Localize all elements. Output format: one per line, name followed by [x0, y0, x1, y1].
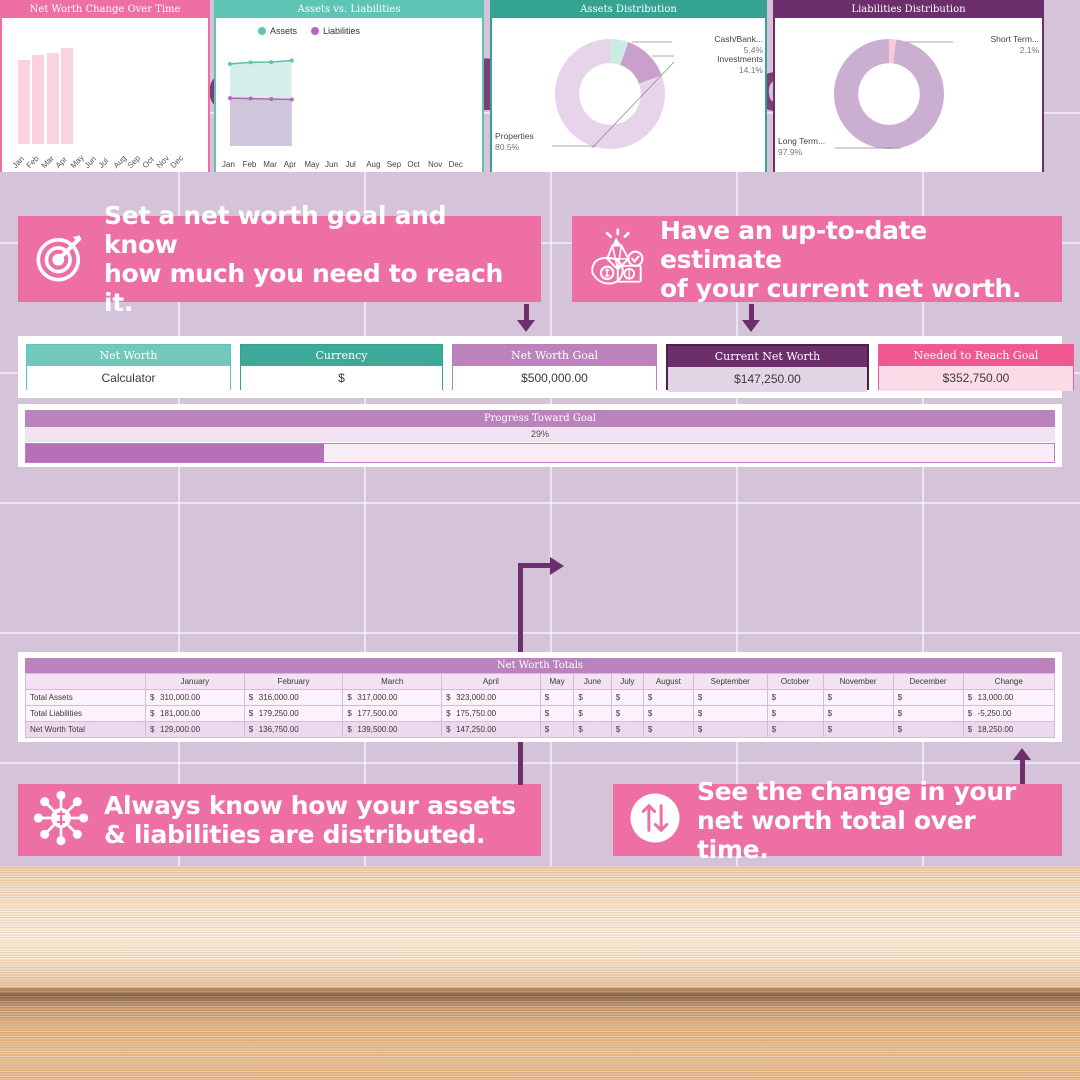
table-row: Net Worth Total$129,000.00$136,750.00$13…	[26, 722, 1055, 738]
progress-percent-label: 29%	[25, 427, 1055, 442]
table-cell[interactable]: $177,500.00	[343, 706, 442, 722]
area-assets-fill	[230, 61, 292, 100]
banner-change: See the change in your net worth total o…	[613, 784, 1062, 856]
table-cell[interactable]: $	[693, 690, 767, 706]
banner-goal-line2: how much you need to reach it.	[104, 259, 527, 317]
area-point-liabilities-2	[269, 97, 273, 101]
banner-distribution: Always know how your assets & liabilitie…	[18, 784, 541, 856]
banner-change-line2: net worth total over time.	[697, 806, 1048, 864]
card-current-header: Current Net Worth	[668, 346, 867, 367]
table-col-november: November	[823, 674, 893, 690]
table-cell[interactable]: $	[893, 706, 963, 722]
assets-donut-chart: Cash/Bank... 5.4% Investments 14.1% Prop…	[492, 18, 765, 172]
table-cell[interactable]: $	[893, 690, 963, 706]
area-xlabel-jul: Jul	[346, 160, 356, 169]
area-point-liabilities-0	[228, 96, 232, 100]
bar-xlabel-jan: Jan	[11, 155, 26, 170]
progress-section: Progress Toward Goal 29%	[18, 404, 1062, 467]
progress-bar-track	[25, 443, 1055, 463]
area-point-assets-1	[249, 60, 253, 64]
table-col-january: January	[146, 674, 245, 690]
area-point-assets-0	[228, 62, 232, 66]
donut-slice-1	[834, 39, 944, 149]
arrow-down-to-current-icon	[742, 304, 760, 332]
area-xlabel-nov: Nov	[428, 160, 442, 169]
area-xlabel-aug: Aug	[366, 160, 380, 169]
panel-area-title: Assets vs. Liabilities	[216, 2, 482, 18]
liabilities-donut-chart: Short Term... 2.1% Long Term... 97.9%	[775, 18, 1042, 172]
bar-xlabel-jun: Jun	[83, 155, 98, 170]
table-header-row: JanuaryFebruaryMarchAprilMayJuneJulyAugu…	[26, 674, 1055, 690]
table-row-label: Net Worth Total	[26, 722, 146, 738]
area-xlabel-may: May	[304, 160, 319, 169]
charts-row: Net Worth Change Over Time JanFebMarAprM…	[0, 0, 1044, 172]
bar-xlabel-apr: Apr	[54, 155, 69, 170]
card-net-worth-goal[interactable]: Net Worth Goal $500,000.00	[452, 344, 657, 390]
card-currency-value[interactable]: $	[241, 366, 442, 391]
table-cell[interactable]: $	[611, 722, 643, 738]
card-current-value: $147,250.00	[668, 367, 867, 392]
table-cell[interactable]: $	[693, 706, 767, 722]
liab-slice-label-1: Long Term...	[778, 136, 862, 147]
panel-net-worth-change: Net Worth Change Over Time JanFebMarAprM…	[0, 0, 210, 172]
liab-slice-label-0: Short Term...	[955, 34, 1039, 45]
table-cell[interactable]: $	[893, 722, 963, 738]
dollar-network-icon	[32, 789, 90, 852]
area-chart: Assets Liabilities JanFebMarAprMayJunJul…	[216, 18, 482, 172]
table-col-september: September	[693, 674, 767, 690]
bar-xlabel-feb: Feb	[25, 154, 41, 170]
table-col-april: April	[442, 674, 541, 690]
bar-mar	[47, 53, 59, 144]
area-xlabel-feb: Feb	[243, 160, 257, 169]
assets-slice-pct-2: 80.5%	[495, 142, 581, 153]
card-goal-value[interactable]: $500,000.00	[453, 366, 656, 391]
card-currency-header: Currency	[241, 345, 442, 366]
net-worth-table: JanuaryFebruaryMarchAprilMayJuneJulyAugu…	[25, 673, 1055, 738]
panel-assets-vs-liabilities: Assets vs. Liabilities Assets Liabilitie…	[214, 0, 484, 172]
bar-xlabel-oct: Oct	[140, 155, 155, 170]
table-cell[interactable]: $-5,250.00	[963, 706, 1054, 722]
area-point-assets-3	[290, 59, 294, 63]
banner-estimate-line1: Have an up-to-date estimate	[660, 216, 1048, 274]
card-net-worth-value[interactable]: Calculator	[27, 366, 230, 391]
bar-jan	[18, 60, 30, 144]
bar-xlabel-may: May	[68, 153, 85, 170]
metric-cards-row: Net Worth Calculator Currency $ Net Wort…	[18, 336, 1062, 398]
table-cell[interactable]: $	[767, 690, 823, 706]
table-cell[interactable]: $	[643, 722, 693, 738]
table-row: Total Liabilities$181,000.00$179,250.00$…	[26, 706, 1055, 722]
panel-liabilities-distribution: Liabilities Distribution Short Term... 2…	[773, 0, 1044, 172]
assets-slice-label-2: Properties	[495, 131, 581, 142]
area-point-assets-2	[269, 60, 273, 64]
banner-estimate: Have an up-to-date estimate of your curr…	[572, 216, 1062, 302]
panel-bar-title: Net Worth Change Over Time	[2, 2, 208, 18]
target-icon	[32, 228, 90, 291]
table-cell[interactable]: $317,000.00	[343, 690, 442, 706]
table-cell[interactable]: $136,750.00	[244, 722, 343, 738]
table-row-label: Total Assets	[26, 690, 146, 706]
assets-slice-label-0: Cash/Bank...	[677, 34, 763, 45]
assets-slice-label-1: Investments	[677, 54, 763, 65]
area-point-liabilities-1	[249, 97, 253, 101]
table-cell[interactable]: $13,000.00	[963, 690, 1054, 706]
arrow-down-to-goal-icon	[517, 304, 535, 332]
area-liabilities-fill	[230, 98, 292, 146]
table-cell[interactable]: $	[540, 706, 574, 722]
wood-desk-backdrop	[0, 866, 1080, 1080]
area-point-liabilities-3	[290, 97, 294, 101]
table-row-label: Total Liabilities	[26, 706, 146, 722]
banner-estimate-line2: of your current net worth.	[660, 274, 1048, 303]
area-xlabel-dec: Dec	[449, 160, 463, 169]
card-current-net-worth[interactable]: Current Net Worth $147,250.00	[666, 344, 869, 390]
panel-assets-distribution: Assets Distribution Cash/Bank... 5.4% In…	[490, 0, 767, 172]
bar-apr	[61, 48, 73, 144]
liab-slice-pct-1: 97.9%	[778, 147, 862, 158]
table-row: Total Assets$310,000.00$316,000.00$317,0…	[26, 690, 1055, 706]
banner-change-line1: See the change in your	[697, 777, 1048, 806]
table-col-march: March	[343, 674, 442, 690]
table-col-october: October	[767, 674, 823, 690]
progress-title: Progress Toward Goal	[25, 410, 1055, 427]
area-xlabel-jun: Jun	[325, 160, 338, 169]
table-cell[interactable]: $179,250.00	[244, 706, 343, 722]
table-cell[interactable]: $129,000.00	[146, 722, 245, 738]
table-cell[interactable]: $	[767, 722, 823, 738]
card-goal-header: Net Worth Goal	[453, 345, 656, 366]
card-needed-value: $352,750.00	[879, 366, 1073, 391]
area-xlabel-oct: Oct	[407, 160, 419, 169]
table-cell[interactable]: $	[823, 690, 893, 706]
panel-adist-title: Assets Distribution	[492, 2, 765, 18]
area-xlabel-sep: Sep	[387, 160, 401, 169]
card-net-worth[interactable]: Net Worth Calculator	[26, 344, 231, 390]
table-col-may: May	[540, 674, 574, 690]
table-cell[interactable]: $	[823, 722, 893, 738]
table-cell[interactable]: $323,000.00	[442, 690, 541, 706]
bar-xlabel-jul: Jul	[97, 156, 111, 170]
table-cell[interactable]: $316,000.00	[244, 690, 343, 706]
table-cell[interactable]: $	[540, 722, 574, 738]
table-col-change: Change	[963, 674, 1054, 690]
banner-set-goal: Set a net worth goal and know how much y…	[18, 216, 541, 302]
table-cell[interactable]: $	[693, 722, 767, 738]
table-cell[interactable]: $	[611, 690, 643, 706]
table-cell[interactable]: $	[574, 706, 611, 722]
card-currency[interactable]: Currency $	[240, 344, 443, 390]
area-xlabel-mar: Mar	[263, 160, 277, 169]
progress-bar-fill	[26, 444, 324, 462]
bar-xlabel-dec: Dec	[169, 154, 185, 170]
table-col-december: December	[893, 674, 963, 690]
assets-slice-pct-1: 14.1%	[677, 65, 763, 76]
table-col-february: February	[244, 674, 343, 690]
card-net-worth-header: Net Worth	[27, 345, 230, 366]
banner-dist-line1: Always know how your assets	[104, 791, 516, 820]
table-cell[interactable]: $	[643, 706, 693, 722]
bar-xlabel-aug: Aug	[111, 154, 127, 170]
table-cell[interactable]: $	[574, 722, 611, 738]
donut-slice-1	[620, 42, 661, 83]
table-cell[interactable]: $	[574, 690, 611, 706]
table-cell[interactable]: $139,500.00	[343, 722, 442, 738]
table-cell[interactable]: $18,250.00	[963, 722, 1054, 738]
table-cell[interactable]: $310,000.00	[146, 690, 245, 706]
bar-xlabel-mar: Mar	[39, 154, 55, 170]
up-down-arrows-icon	[627, 790, 683, 851]
area-xlabel-apr: Apr	[284, 160, 296, 169]
card-needed-header: Needed to Reach Goal	[879, 345, 1073, 366]
liab-slice-pct-0: 2.1%	[955, 45, 1039, 56]
arrow-up-to-table-icon	[1013, 748, 1031, 784]
net-worth-totals-section: Net Worth Totals JanuaryFebruaryMarchApr…	[18, 652, 1062, 742]
card-needed-to-reach-goal[interactable]: Needed to Reach Goal $352,750.00	[878, 344, 1074, 390]
money-bag-icon	[586, 228, 646, 291]
area-xlabel-jan: Jan	[222, 160, 235, 169]
table-cell[interactable]: $	[611, 706, 643, 722]
desk-shadow	[0, 988, 1080, 1002]
table-cell[interactable]: $	[767, 706, 823, 722]
table-cell[interactable]: $	[643, 690, 693, 706]
banner-goal-line1: Set a net worth goal and know	[104, 201, 527, 259]
table-col-row-label	[26, 674, 146, 690]
table-cell[interactable]: $	[540, 690, 574, 706]
table-col-june: June	[574, 674, 611, 690]
table-cell[interactable]: $181,000.00	[146, 706, 245, 722]
bar-feb	[32, 55, 44, 144]
table-cell[interactable]: $175,750.00	[442, 706, 541, 722]
table-cell[interactable]: $147,250.00	[442, 722, 541, 738]
bar-xlabel-sep: Sep	[126, 154, 142, 170]
table-col-august: August	[643, 674, 693, 690]
table-title: Net Worth Totals	[25, 658, 1055, 673]
banner-dist-line2: & liabilities are distributed.	[104, 820, 516, 849]
table-col-july: July	[611, 674, 643, 690]
table-cell[interactable]: $	[823, 706, 893, 722]
bar-chart: JanFebMarAprMayJunJulAugSepOctNovDec	[2, 18, 208, 172]
panel-ldist-title: Liabilities Distribution	[775, 2, 1042, 18]
